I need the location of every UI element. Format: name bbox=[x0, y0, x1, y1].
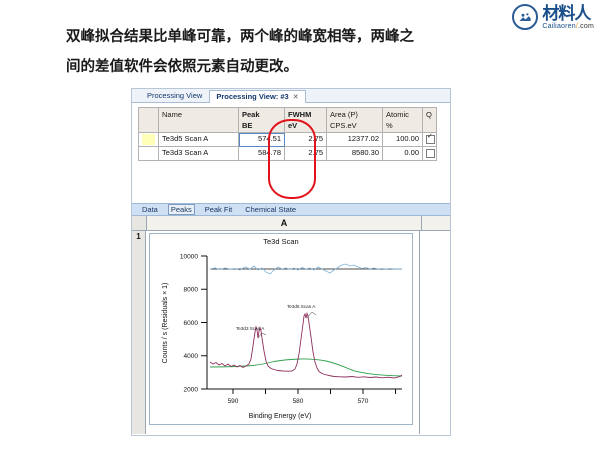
row-quantify-checkbox[interactable] bbox=[423, 147, 437, 161]
tab-processing-view-3-label: Processing View: #3 bbox=[216, 92, 288, 101]
peak-annotation-te3d5: Te3d5 Scan A bbox=[287, 304, 316, 309]
col-header-q[interactable]: Q bbox=[423, 108, 437, 133]
grid-column-header-b[interactable] bbox=[422, 216, 450, 230]
col-header-fwhm[interactable]: FWHM eV bbox=[285, 108, 327, 133]
logo-english-name: Cailiaoren/.com bbox=[542, 23, 594, 30]
checkbox-icon[interactable] bbox=[426, 149, 435, 158]
grid-body: 1 Te3d Scan bbox=[132, 231, 450, 434]
row-fwhm[interactable]: 2.75 bbox=[285, 147, 327, 161]
grid-row-header-1[interactable]: 1 bbox=[132, 231, 146, 434]
grid-cell-b1[interactable] bbox=[420, 231, 450, 434]
grid-corner-cell[interactable] bbox=[132, 216, 147, 230]
row-area[interactable]: 12377.02 bbox=[327, 133, 383, 147]
col-header-name[interactable]: Name bbox=[159, 108, 239, 133]
caption-line-2: 间的差值软件会依照元素自动更改。 bbox=[66, 52, 476, 82]
peak-annotation-te3d3: Te3d3 Scan A bbox=[236, 326, 265, 331]
y-axis-label: Counts / s (Residuals × 1) bbox=[162, 283, 169, 364]
x-axis-label: Binding Energy (eV) bbox=[249, 413, 312, 420]
col-header-fwhm-line2: eV bbox=[288, 121, 297, 130]
checkbox-icon[interactable] bbox=[426, 135, 435, 144]
table-header-row: Name Peak BE FWHM eV Area (P) CPS.eV bbox=[139, 108, 437, 133]
processing-view-window: Processing View Processing View: #3 ✕ Na… bbox=[131, 88, 451, 436]
row-name[interactable]: Te3d3 Scan A bbox=[159, 147, 239, 161]
background-series bbox=[210, 359, 402, 376]
row-fwhm[interactable]: 2.75 bbox=[285, 133, 327, 147]
row-peak-be[interactable]: 584.78 bbox=[239, 147, 285, 161]
tab-processing-view[interactable]: Processing View bbox=[140, 89, 209, 102]
envelope-series bbox=[210, 314, 402, 379]
col-header-fwhm-line1: FWHM bbox=[288, 110, 311, 119]
grid-column-header-row: A bbox=[132, 216, 450, 231]
col-header-area-line1: Area (P) bbox=[330, 110, 358, 119]
logo-text: 材料人 Cailiaoren/.com bbox=[542, 5, 594, 30]
caption-line-1: 双峰拟合结果比单峰可靠，两个峰的峰宽相等，两峰之 bbox=[66, 22, 476, 52]
spectrum-grid-pane: A 1 Te3d Scan bbox=[132, 216, 450, 435]
logo-english-right: .com bbox=[578, 23, 594, 30]
col-header-peak-be-line2: BE bbox=[242, 121, 252, 130]
col-header-q-line1: Q bbox=[426, 110, 432, 119]
x-tick-580: 580 bbox=[293, 398, 304, 405]
logo-chinese-name: 材料人 bbox=[542, 5, 594, 22]
col-header-name-line1: Name bbox=[162, 110, 182, 119]
tab-processing-view-label: Processing View bbox=[147, 91, 202, 100]
col-header-area[interactable]: Area (P) CPS.eV bbox=[327, 108, 383, 133]
tab-peak-fit[interactable]: Peak Fit bbox=[202, 205, 236, 214]
tab-peaks[interactable]: Peaks bbox=[168, 204, 195, 215]
peak-parameters-table: Name Peak BE FWHM eV Area (P) CPS.eV bbox=[138, 107, 437, 161]
row-peak-be[interactable]: 574.51 bbox=[239, 133, 285, 147]
grid-cell-a1[interactable]: Te3d Scan bbox=[146, 231, 420, 434]
xps-spectrum-chart[interactable]: Te3d Scan bbox=[149, 233, 413, 425]
y-tick-2000: 2000 bbox=[184, 387, 199, 394]
x-tick-570: 570 bbox=[358, 398, 369, 405]
col-header-swatch[interactable] bbox=[139, 108, 159, 133]
tab-data[interactable]: Data bbox=[139, 205, 161, 214]
row-area[interactable]: 8580.30 bbox=[327, 147, 383, 161]
col-header-peak-be[interactable]: Peak BE bbox=[239, 108, 285, 133]
peak-table-container: Name Peak BE FWHM eV Area (P) CPS.eV bbox=[132, 103, 450, 161]
cailiaoren-circle-mark bbox=[512, 4, 538, 30]
row-name[interactable]: Te3d5 Scan A bbox=[159, 133, 239, 147]
x-tick-590: 590 bbox=[228, 398, 239, 405]
caption-text: 双峰拟合结果比单峰可靠，两个峰的峰宽相等，两峰之 间的差值软件会依照元素自动更改… bbox=[66, 22, 476, 82]
row-color-swatch[interactable] bbox=[139, 147, 159, 161]
grid-column-header-a[interactable]: A bbox=[147, 216, 422, 230]
row-quantify-checkbox[interactable] bbox=[423, 133, 437, 147]
y-tick-8000: 8000 bbox=[184, 287, 199, 294]
y-tick-10000: 10000 bbox=[180, 254, 198, 261]
table-row[interactable]: Te3d5 Scan A 574.51 2.75 12377.02 100.00 bbox=[139, 133, 437, 147]
tab-chemical-state[interactable]: Chemical State bbox=[242, 205, 299, 214]
col-header-atomic-line2: % bbox=[386, 121, 393, 130]
site-logo: 材料人 Cailiaoren/.com bbox=[512, 4, 594, 30]
row-atomic[interactable]: 0.00 bbox=[383, 147, 423, 161]
chart-svg: 2000 4000 6000 8000 10000 bbox=[150, 234, 412, 424]
tab-processing-view-3[interactable]: Processing View: #3 ✕ bbox=[209, 90, 305, 103]
y-tick-4000: 4000 bbox=[184, 353, 199, 360]
sub-tab-bar: Data Peaks Peak Fit Chemical State bbox=[132, 203, 450, 216]
y-tick-6000: 6000 bbox=[184, 320, 199, 327]
col-header-area-line2: CPS.eV bbox=[330, 121, 357, 130]
table-row[interactable]: Te3d3 Scan A 584.78 2.75 8580.30 0.00 bbox=[139, 147, 437, 161]
col-header-atomic[interactable]: Atomic % bbox=[383, 108, 423, 133]
view-tab-strip: Processing View Processing View: #3 ✕ bbox=[132, 89, 450, 103]
col-header-peak-be-line1: Peak bbox=[242, 110, 260, 119]
col-header-atomic-line1: Atomic bbox=[386, 110, 409, 119]
logo-english-left: Cailiaoren bbox=[542, 23, 576, 30]
row-color-swatch[interactable] bbox=[139, 133, 159, 147]
row-atomic[interactable]: 100.00 bbox=[383, 133, 423, 147]
close-icon[interactable]: ✕ bbox=[293, 93, 299, 101]
